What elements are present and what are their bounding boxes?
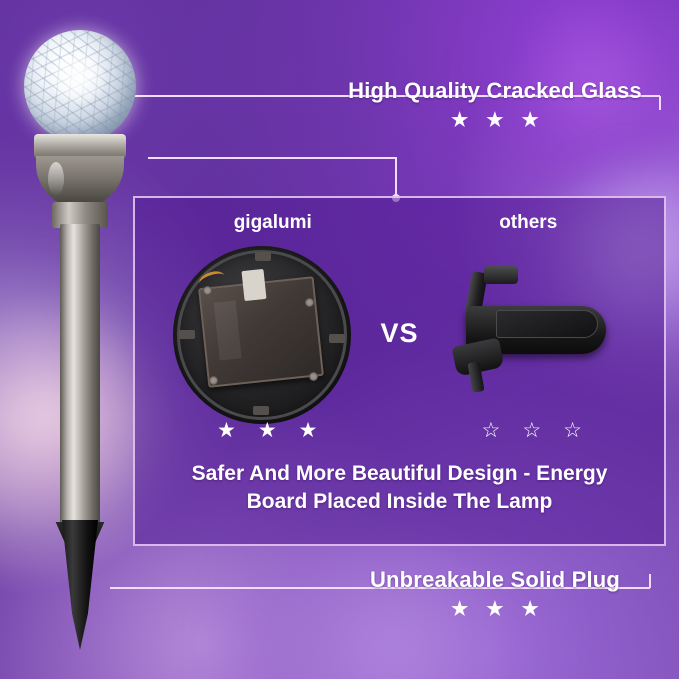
callout-bottom-headline: Unbreakable Solid Plug (330, 567, 660, 593)
callout-bottom-stars: ★ ★ ★ (330, 600, 660, 619)
star-icon: ★ (217, 420, 236, 441)
lamp-stainless-tube (60, 224, 100, 524)
gigalumi-rating: ★ ★ ★ (135, 420, 400, 441)
star-outline-icon: ☆ (563, 420, 582, 441)
gigalumi-internal-board-photo (173, 246, 351, 424)
cracked-glass-globe (24, 30, 136, 142)
lamp-dome-housing (36, 156, 124, 208)
star-icon: ★ (522, 600, 539, 619)
others-solar-panel-face (496, 310, 598, 338)
screw-icon (203, 286, 212, 295)
housing-tab (253, 406, 269, 415)
callout-top: High Quality Cracked Glass ★ ★ ★ (330, 78, 660, 130)
housing-tab (329, 334, 345, 343)
star-icon: ★ (486, 600, 503, 619)
screw-icon (209, 376, 218, 385)
brand-label-others: others (401, 212, 657, 234)
callout-bottom: Unbreakable Solid Plug ★ ★ ★ (330, 567, 660, 619)
star-outline-icon: ☆ (482, 420, 501, 441)
others-external-panel-photo (438, 258, 628, 408)
callout-top-stars: ★ ★ ★ (330, 111, 660, 130)
comparison-panel: gigalumi others VS (133, 196, 666, 546)
brand-label-gigalumi: gigalumi (145, 212, 401, 234)
dome-highlight (48, 162, 64, 196)
others-knob (484, 266, 518, 284)
star-icon: ★ (522, 111, 539, 130)
housing-tab (255, 252, 271, 261)
comparison-caption-line-2: Board Placed Inside The Lamp (149, 488, 650, 516)
star-icon: ★ (258, 420, 277, 441)
comparison-caption-line-1: Safer And More Beautiful Design - Energy (149, 460, 650, 488)
vs-label: VS (380, 318, 418, 349)
callout-top-headline: High Quality Cracked Glass (330, 78, 660, 104)
star-icon: ★ (299, 420, 318, 441)
screw-icon (309, 372, 318, 381)
infographic-canvas: High Quality Cracked Glass ★ ★ ★ gigalum… (0, 0, 679, 679)
comparison-ratings: ★ ★ ★ ☆ ☆ ☆ (135, 420, 664, 441)
comparison-headers: gigalumi others (135, 212, 664, 234)
star-icon: ★ (451, 111, 468, 130)
star-icon: ★ (486, 111, 503, 130)
star-icon: ★ (451, 600, 468, 619)
housing-tab (179, 330, 195, 339)
star-outline-icon: ☆ (522, 420, 541, 441)
comparison-caption: Safer And More Beautiful Design - Energy… (135, 460, 664, 516)
globe-highlight (50, 52, 106, 104)
lamp-solid-plug-spike (62, 520, 98, 650)
others-rating: ☆ ☆ ☆ (400, 420, 665, 441)
screw-icon (305, 298, 314, 307)
board-chip (241, 269, 266, 301)
